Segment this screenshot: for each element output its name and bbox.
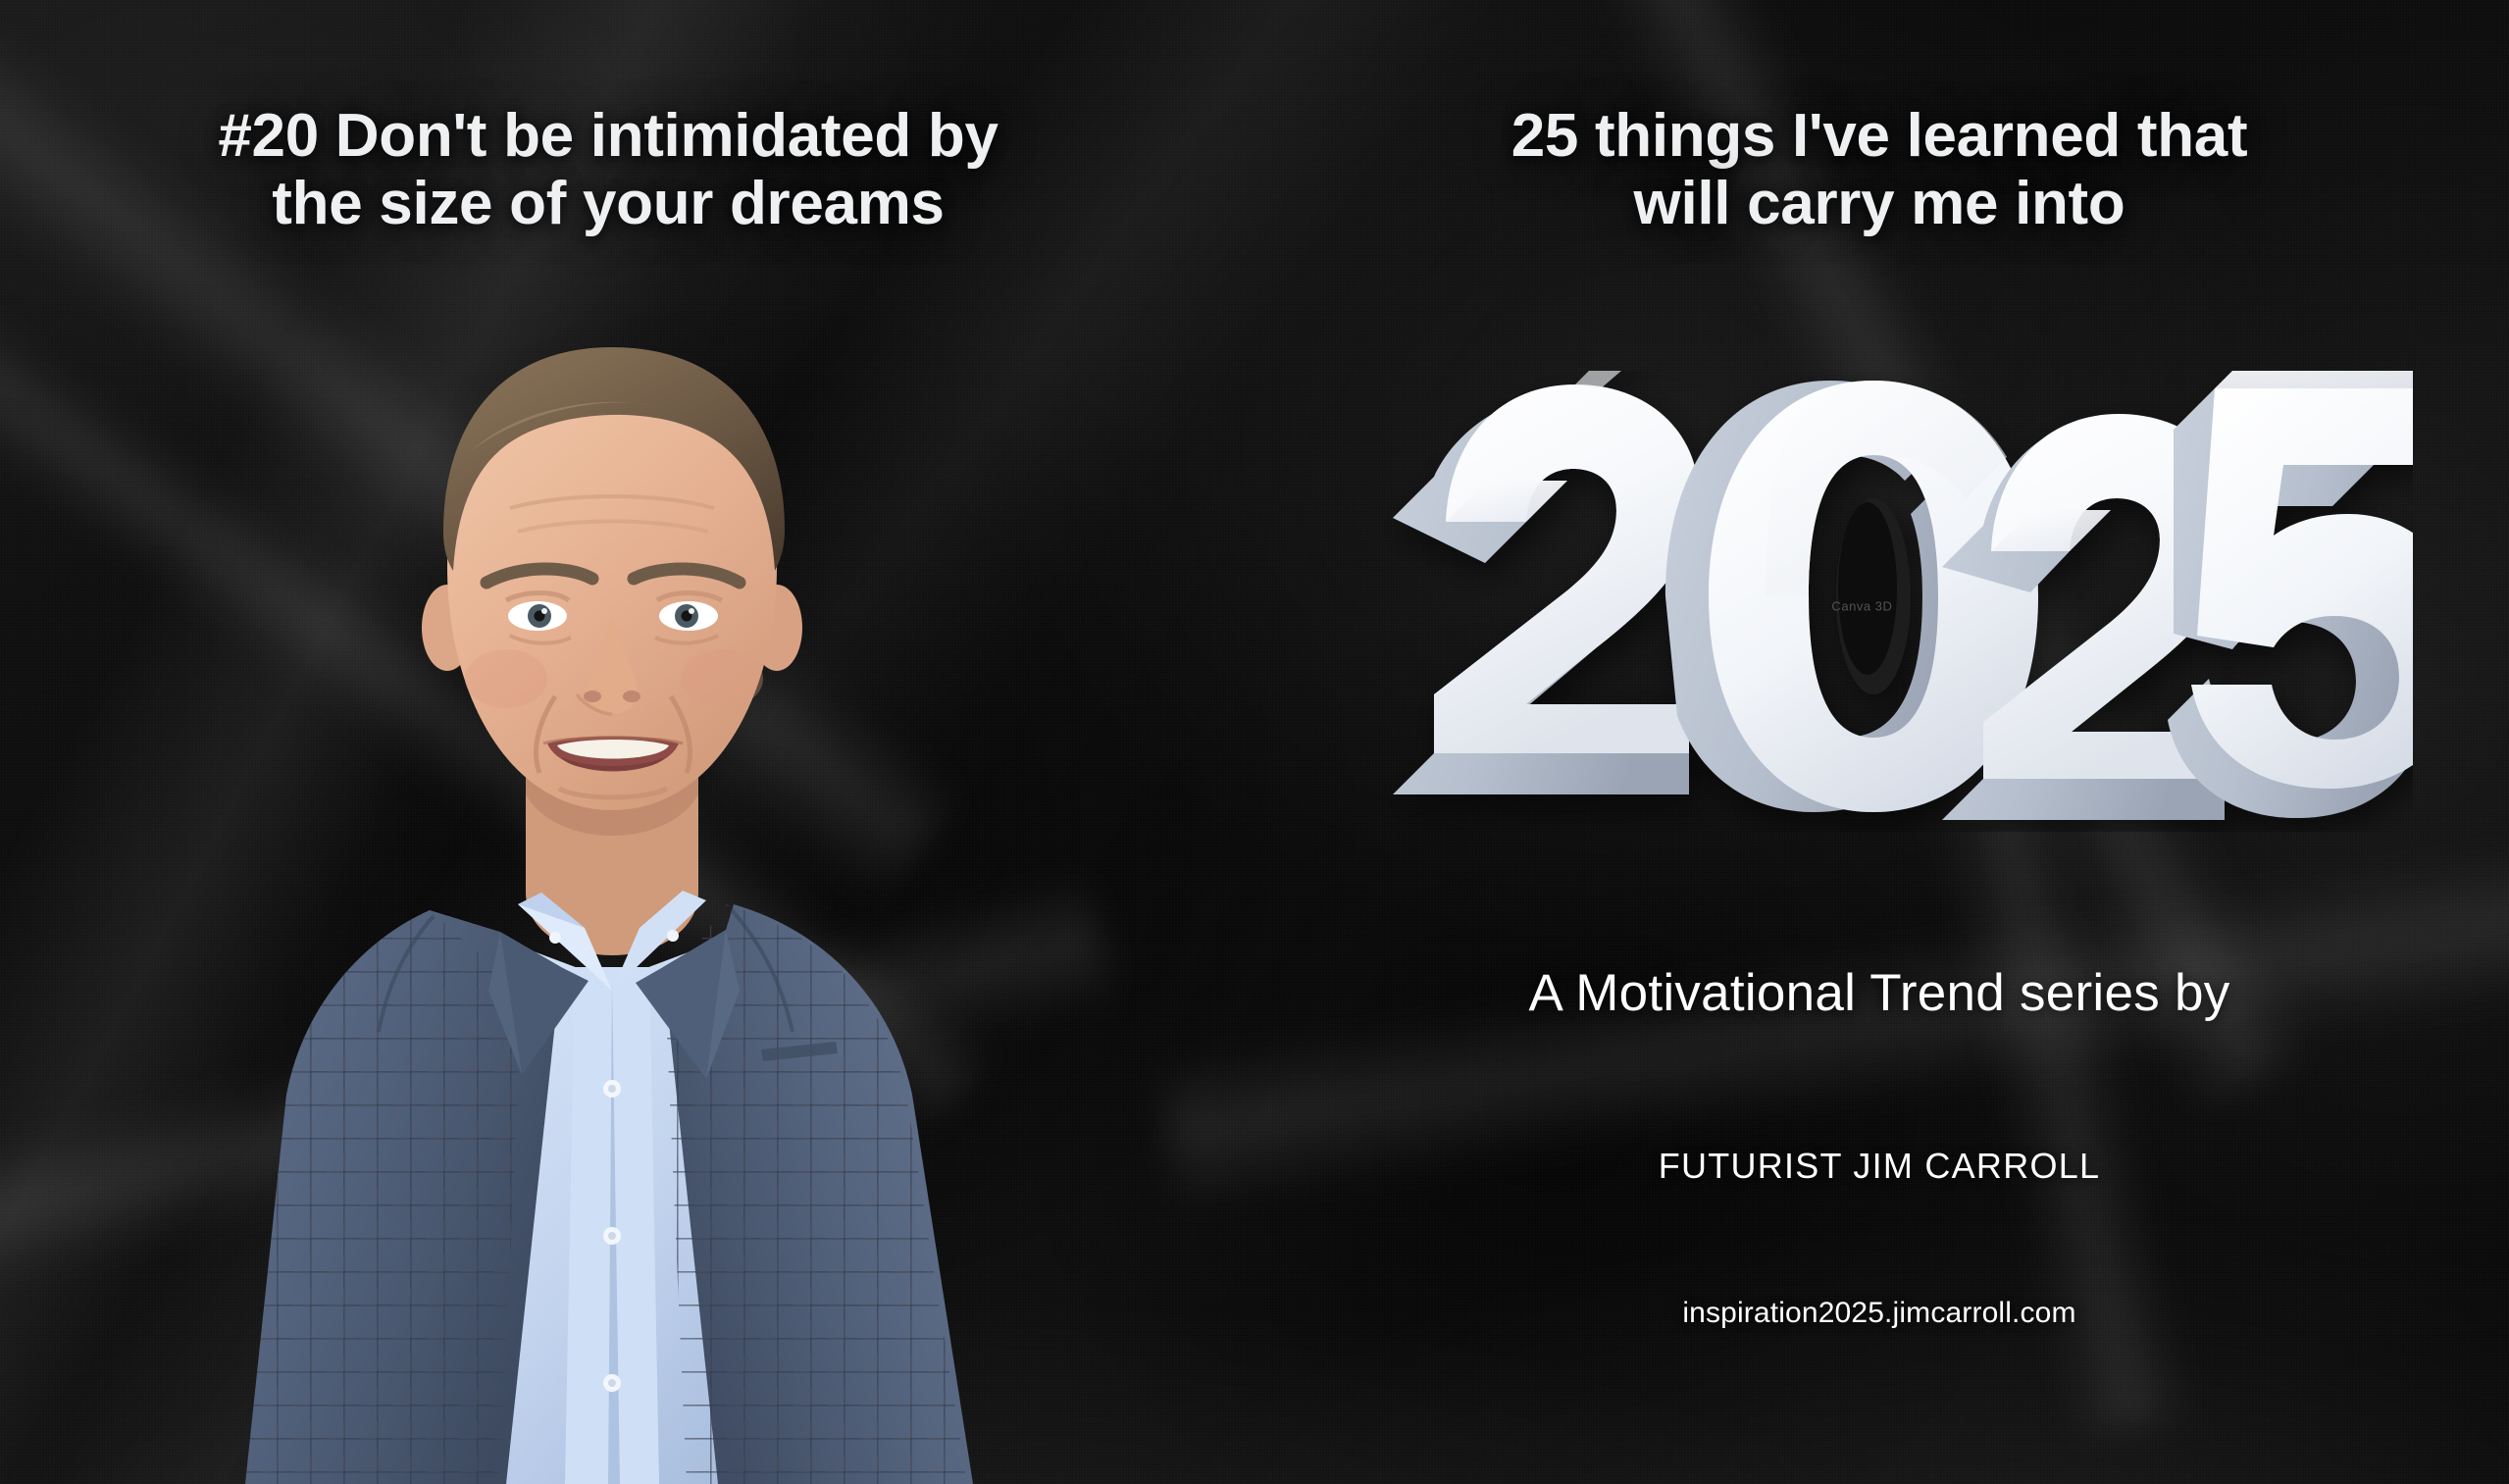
slide-canvas: #20 Don't be intimidated by the size of … [0, 0, 2509, 1484]
series-byline: FUTURIST JIM CARROLL [1330, 1146, 2429, 1187]
year-digit-0 [1665, 381, 2038, 812]
year-digit-5 [2168, 371, 2413, 818]
year-2025-graphic: Canva 3D [1354, 371, 2413, 832]
portrait-jim-carroll [177, 304, 1118, 1484]
headline-left: #20 Don't be intimidated by the size of … [59, 102, 1157, 238]
headline-right-line2: will carry me into [1330, 170, 2429, 237]
year-digit-2-first [1393, 371, 1699, 794]
series-website[interactable]: inspiration2025.jimcarroll.com [1330, 1297, 2429, 1330]
headline-right: 25 things I've learned that will carry m… [1330, 102, 2429, 238]
year-3d-numerals [1354, 371, 2413, 832]
series-subtitle: A Motivational Trend series by [1330, 963, 2429, 1023]
headline-left-line2: the size of your dreams [59, 170, 1157, 237]
headline-left-line1: #20 Don't be intimidated by [59, 102, 1157, 170]
headline-right-line1: 25 things I've learned that [1330, 102, 2429, 170]
